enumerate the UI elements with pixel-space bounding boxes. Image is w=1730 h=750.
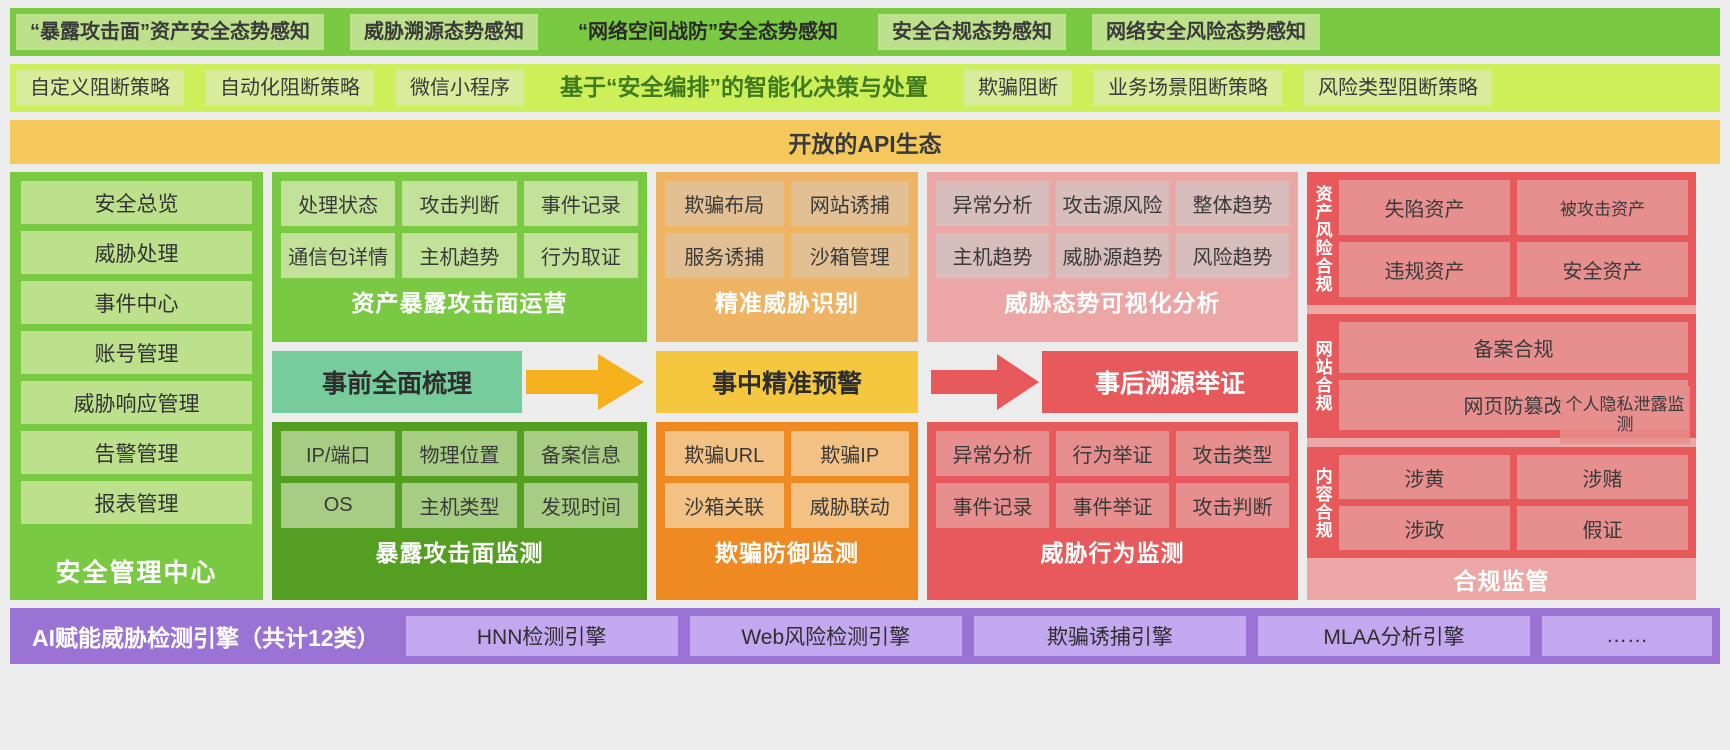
orch-chip-risk-type-policy[interactable]: 风险类型阻断策略: [1304, 70, 1492, 106]
sidebar-item-event-center[interactable]: 事件中心: [21, 281, 252, 324]
tile-threat-linkage[interactable]: 威胁联动: [791, 483, 910, 528]
orch-chip-custom-block-policy[interactable]: 自定义阻断策略: [16, 70, 184, 106]
flow-stage-3-row: 事后溯源举证: [927, 351, 1298, 413]
engine-web-risk[interactable]: Web风险检测引擎: [690, 616, 962, 656]
ai-engine-title: AI赋能威胁检测引擎（共计12类）: [18, 619, 394, 653]
tile-packet-detail[interactable]: 通信包详情: [281, 233, 395, 278]
arrow-right-red-icon: [927, 351, 1042, 413]
sense-chip-threat-tracing[interactable]: 威胁溯源态势感知: [350, 14, 538, 50]
compliance-block-website: 网站合规 备案合规 网页防篡改 个人隐私泄露监测: [1307, 314, 1696, 438]
tile-host-trend-viz[interactable]: 主机趋势: [936, 233, 1049, 278]
sidebar-item-account-management[interactable]: 账号管理: [21, 331, 252, 374]
flow-stage-1: 事前全面梳理: [272, 351, 522, 413]
tile-website-trap[interactable]: 网站诱捕: [791, 181, 910, 226]
tile-fake-certificate[interactable]: 假证: [1517, 506, 1688, 550]
tile-attack-type[interactable]: 攻击类型: [1176, 431, 1289, 476]
panel-exposure-monitoring: IP/端口 物理位置 备案信息 OS 主机类型 发现时间 暴露攻击面监测: [272, 422, 647, 600]
panel-precise-threat-identification: 欺骗布局 网站诱捕 服务诱捕 沙箱管理 精准威胁识别: [656, 172, 918, 342]
tile-event-record[interactable]: 事件记录: [524, 181, 638, 226]
tile-discovery-time[interactable]: 发现时间: [524, 483, 638, 528]
panel-caption-precise-threat-identification: 精准威胁识别: [656, 280, 918, 322]
main-grid: 安全总览 威胁处理 事件中心 账号管理 威胁响应管理 告警管理 报表管理 安全管…: [10, 172, 1720, 600]
tile-compromised-asset[interactable]: 失陷资产: [1339, 180, 1510, 235]
tile-sandbox-management[interactable]: 沙箱管理: [791, 233, 910, 278]
tile-attacked-asset[interactable]: 被攻击资产: [1517, 180, 1688, 235]
tile-event-evidence[interactable]: 事件举证: [1056, 483, 1169, 528]
orch-chip-business-scene-policy[interactable]: 业务场景阻断策略: [1094, 70, 1282, 106]
panel-threat-behavior-monitoring: 异常分析 行为举证 攻击类型 事件记录 事件举证 攻击判断 威胁行为监测: [927, 422, 1298, 600]
flow-stage-2: 事中精准预警: [656, 351, 918, 413]
panel-caption-threat-situation-visual-analysis: 威胁态势可视化分析: [927, 280, 1298, 322]
compliance-caption: 合规监管: [1307, 558, 1696, 600]
tile-behavior-forensics[interactable]: 行为取证: [524, 233, 638, 278]
ai-engine-band: AI赋能威胁检测引擎（共计12类） HNN检测引擎 Web风险检测引擎 欺骗诱捕…: [10, 608, 1720, 664]
flow-stage-3: 事后溯源举证: [1042, 351, 1298, 413]
tile-physical-location[interactable]: 物理位置: [402, 431, 516, 476]
orch-chip-deception-block[interactable]: 欺骗阻断: [964, 70, 1072, 106]
tile-deception-layout[interactable]: 欺骗布局: [665, 181, 784, 226]
tile-processing-status[interactable]: 处理状态: [281, 181, 395, 226]
orch-chip-wechat-miniprogram[interactable]: 微信小程序: [396, 70, 524, 106]
tile-os[interactable]: OS: [281, 483, 395, 528]
compliance-label-website: 网站合规: [1307, 314, 1337, 438]
compliance-label-content: 内容合规: [1307, 447, 1337, 558]
sidebar: 安全总览 威胁处理 事件中心 账号管理 威胁响应管理 告警管理 报表管理 安全管…: [10, 172, 263, 600]
orch-band-title: 基于“安全编排”的智能化决策与处置: [546, 70, 942, 106]
tile-gambling[interactable]: 涉赌: [1517, 455, 1688, 499]
tile-violating-asset[interactable]: 违规资产: [1339, 242, 1510, 297]
panel-caption-exposure-monitoring: 暴露攻击面监测: [272, 530, 647, 572]
tile-personal-privacy-leak-monitoring[interactable]: 个人隐私泄露监测: [1560, 386, 1690, 444]
column-asset: 处理状态 攻击判断 事件记录 通信包详情 主机趋势 行为取证 资产暴露攻击面运营…: [272, 172, 647, 600]
column-compliance: 资产风险合规 失陷资产 被攻击资产 违规资产 安全资产 网站合规 备案合规 网页…: [1307, 172, 1696, 600]
engine-hnn[interactable]: HNN检测引擎: [406, 616, 678, 656]
orchestration-band: 自定义阻断策略 自动化阻断策略 微信小程序 基于“安全编排”的智能化决策与处置 …: [10, 64, 1720, 112]
tile-icp-compliance[interactable]: 备案合规: [1339, 322, 1688, 372]
tile-pornography[interactable]: 涉黄: [1339, 455, 1510, 499]
tile-deception-ip[interactable]: 欺骗IP: [791, 431, 910, 476]
tile-anomaly-analysis[interactable]: 异常分析: [936, 181, 1049, 226]
panel-deception-defense-monitoring: 欺骗URL 欺骗IP 沙箱关联 威胁联动 欺骗防御监测: [656, 422, 918, 600]
sidebar-item-overview[interactable]: 安全总览: [21, 181, 252, 224]
column-deception: 欺骗布局 网站诱捕 服务诱捕 沙箱管理 精准威胁识别 事中精准预警 欺骗URL …: [656, 172, 918, 600]
tile-overall-trend[interactable]: 整体趋势: [1176, 181, 1289, 226]
tile-host-trend[interactable]: 主机趋势: [402, 233, 516, 278]
engine-more[interactable]: ……: [1542, 616, 1712, 656]
security-management-center-column: 安全总览 威胁处理 事件中心 账号管理 威胁响应管理 告警管理 报表管理 安全管…: [10, 172, 263, 600]
sense-chip-network-risk[interactable]: 网络安全风险态势感知: [1092, 14, 1320, 50]
sidebar-item-threat-response[interactable]: 威胁响应管理: [21, 381, 252, 424]
compliance-block-asset-risk: 资产风险合规 失陷资产 被攻击资产 违规资产 安全资产: [1307, 172, 1696, 305]
tile-anomaly-analysis-behavior[interactable]: 异常分析: [936, 431, 1049, 476]
tile-sandbox-correlation[interactable]: 沙箱关联: [665, 483, 784, 528]
panel-caption-deception-defense-monitoring: 欺骗防御监测: [656, 530, 918, 572]
tile-deception-url[interactable]: 欺骗URL: [665, 431, 784, 476]
compliance-label-asset-risk: 资产风险合规: [1307, 172, 1337, 305]
orch-chip-auto-block-policy[interactable]: 自动化阻断策略: [206, 70, 374, 106]
compliance-panel: 资产风险合规 失陷资产 被攻击资产 违规资产 安全资产 网站合规 备案合规 网页…: [1307, 172, 1696, 600]
tile-attack-source-risk[interactable]: 攻击源风险: [1056, 181, 1169, 226]
sidebar-item-alarm-management[interactable]: 告警管理: [21, 431, 252, 474]
architecture-diagram: “暴露攻击面”资产安全态势感知 威胁溯源态势感知 “网络空间战防”安全态势感知 …: [0, 0, 1730, 750]
flow-stage-2-row: 事中精准预警: [656, 351, 918, 413]
panel-asset-exposure-ops: 处理状态 攻击判断 事件记录 通信包详情 主机趋势 行为取证 资产暴露攻击面运营: [272, 172, 647, 342]
tile-icp-record-info[interactable]: 备案信息: [524, 431, 638, 476]
sidebar-caption: 安全管理中心: [21, 548, 252, 594]
situational-awareness-band: “暴露攻击面”资产安全态势感知 威胁溯源态势感知 “网络空间战防”安全态势感知 …: [10, 8, 1720, 56]
sidebar-item-report-management[interactable]: 报表管理: [21, 481, 252, 524]
compliance-divider-1: [1307, 305, 1696, 314]
api-ecosystem-band: 开放的API生态: [10, 120, 1720, 164]
arrow-right-orange-icon: [522, 351, 647, 413]
tile-attack-judgement[interactable]: 攻击判断: [402, 181, 516, 226]
engine-deception-trap[interactable]: 欺骗诱捕引擎: [974, 616, 1246, 656]
tile-attack-judgement-behavior[interactable]: 攻击判断: [1176, 483, 1289, 528]
tile-service-trap[interactable]: 服务诱捕: [665, 233, 784, 278]
column-threat: 异常分析 攻击源风险 整体趋势 主机趋势 威胁源趋势 风险趋势 威胁态势可视化分…: [927, 172, 1298, 600]
tile-ip-port[interactable]: IP/端口: [281, 431, 395, 476]
flow-stage-1-row: 事前全面梳理: [272, 351, 647, 413]
tile-threat-source-trend[interactable]: 威胁源趋势: [1056, 233, 1169, 278]
tile-host-type[interactable]: 主机类型: [402, 483, 516, 528]
sidebar-item-threat-handling[interactable]: 威胁处理: [21, 231, 252, 274]
sense-chip-exposed-attack-surface[interactable]: “暴露攻击面”资产安全态势感知: [16, 14, 324, 50]
tile-event-record-behavior[interactable]: 事件记录: [936, 483, 1049, 528]
tile-risk-trend[interactable]: 风险趋势: [1176, 233, 1289, 278]
panel-caption-asset-exposure-ops: 资产暴露攻击面运营: [272, 280, 647, 322]
panel-threat-situation-visual-analysis: 异常分析 攻击源风险 整体趋势 主机趋势 威胁源趋势 风险趋势 威胁态势可视化分…: [927, 172, 1298, 342]
compliance-block-content: 内容合规 涉黄 涉赌 涉政 假证: [1307, 447, 1696, 558]
tile-secure-asset[interactable]: 安全资产: [1517, 242, 1688, 297]
tile-behavior-evidence[interactable]: 行为举证: [1056, 431, 1169, 476]
engine-mlaa[interactable]: MLAA分析引擎: [1258, 616, 1530, 656]
sense-chip-security-compliance[interactable]: 安全合规态势感知: [878, 14, 1066, 50]
sense-chip-cyberspace-defense[interactable]: “网络空间战防”安全态势感知: [564, 14, 852, 50]
tile-politics[interactable]: 涉政: [1339, 506, 1510, 550]
panel-caption-threat-behavior-monitoring: 威胁行为监测: [927, 530, 1298, 572]
